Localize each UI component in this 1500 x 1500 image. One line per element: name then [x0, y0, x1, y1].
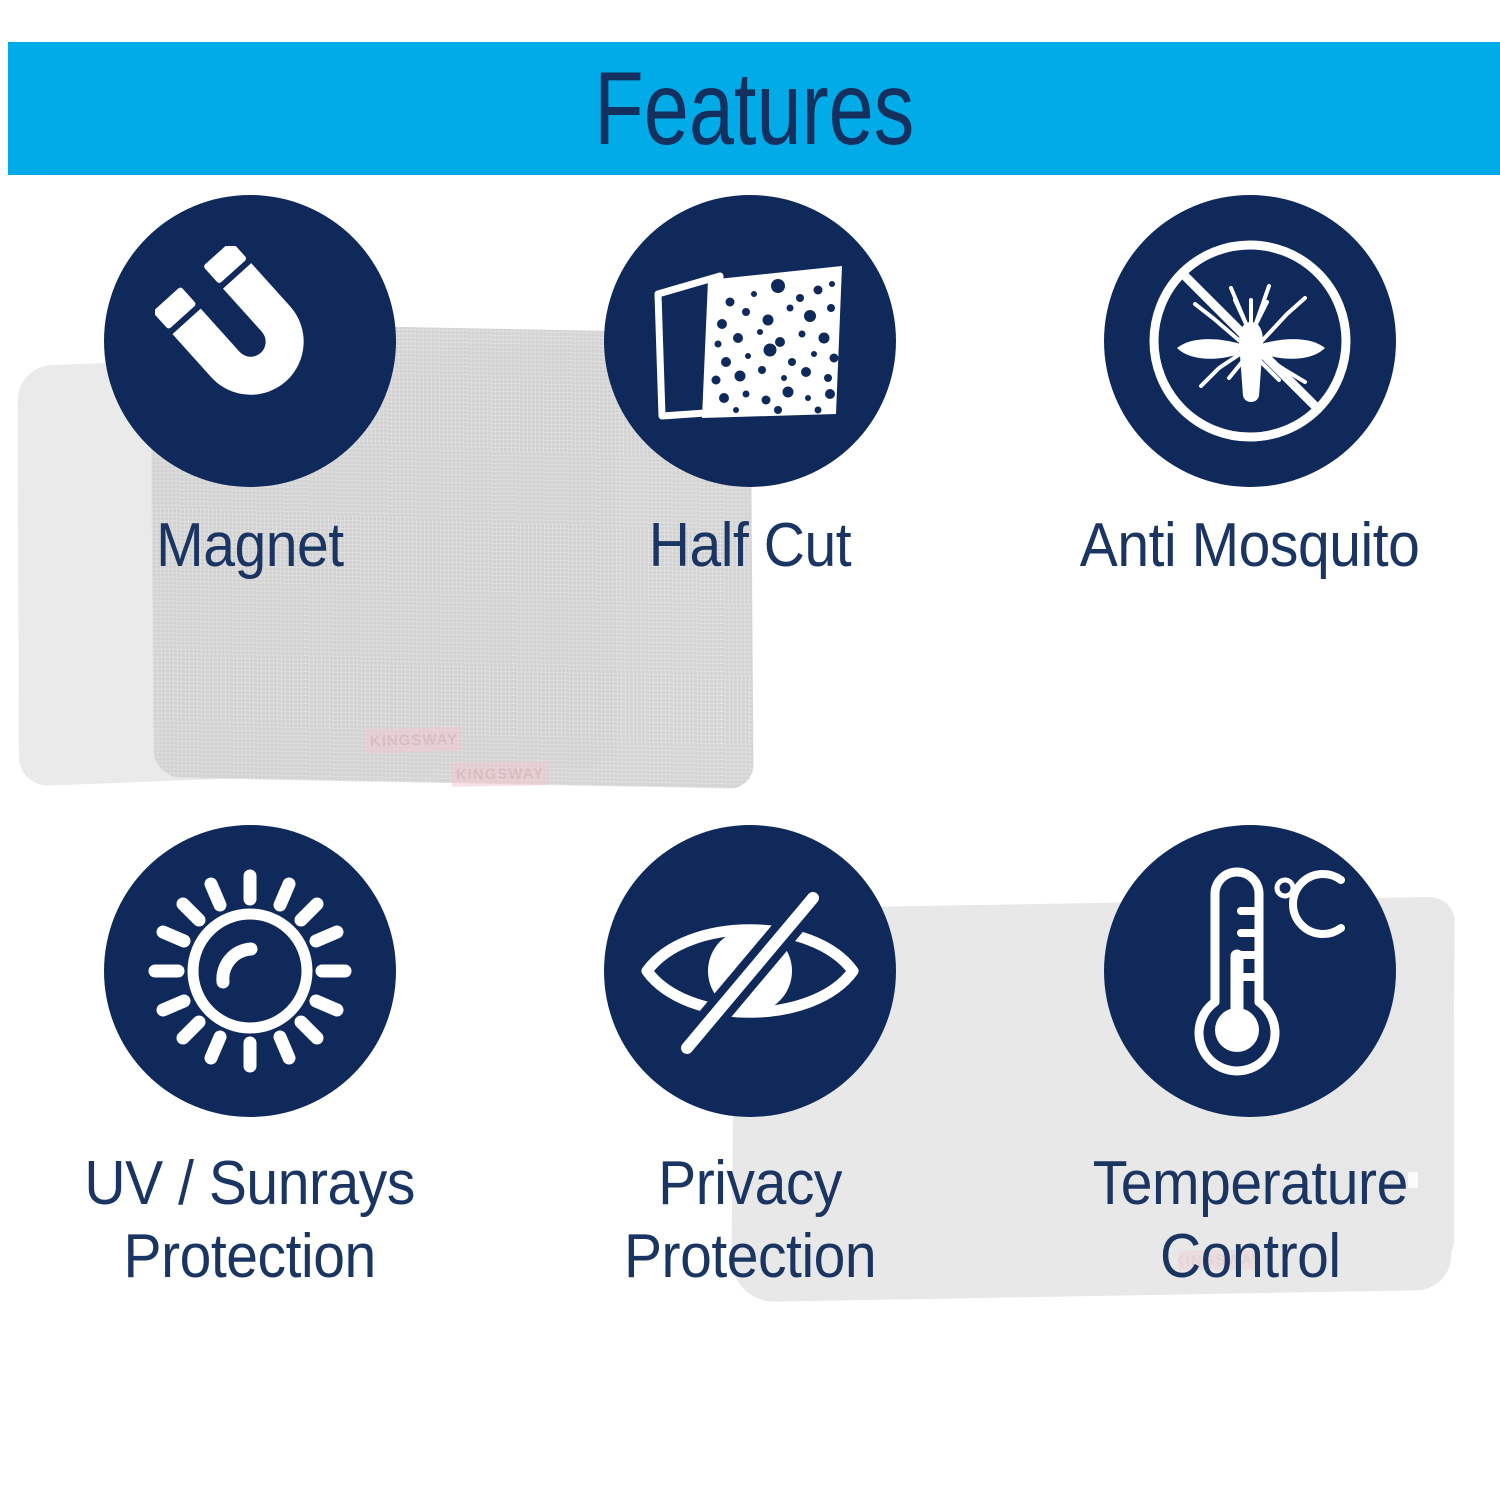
- feature-item-privacy-protection[interactable]: Privacy Protection: [500, 825, 1000, 1293]
- feature-label-anti-mosquito: Anti Mosquito: [1080, 509, 1420, 582]
- feature-label-uv-sunrays-protection: UV / Sunrays Protection: [85, 1147, 416, 1293]
- feature-item-half-cut[interactable]: Half Cut: [500, 195, 1000, 582]
- feature-label-magnet: Magnet: [156, 509, 344, 582]
- feature-item-anti-mosquito[interactable]: Anti Mosquito: [1000, 195, 1500, 582]
- sun-icon: [145, 866, 355, 1076]
- header-banner: Features: [8, 42, 1500, 175]
- feature-label-half-cut: Half Cut: [649, 509, 851, 582]
- feature-item-temperature-control[interactable]: Temperature Control: [1000, 825, 1500, 1293]
- magnet-icon-badge: [104, 195, 396, 487]
- no-mosquito-icon-badge: [1104, 195, 1396, 487]
- feature-row-bottom: UV / Sunrays Protection Privacy Protecti…: [0, 825, 1500, 1293]
- no-mosquito-icon: [1135, 226, 1365, 456]
- eye-slash-icon: [635, 876, 865, 1066]
- thermometer-celsius-icon-badge: [1104, 825, 1396, 1117]
- feature-item-uv-sunrays-protection[interactable]: UV / Sunrays Protection: [0, 825, 500, 1293]
- sun-icon-badge: [104, 825, 396, 1117]
- feature-row-top: Magnet: [0, 195, 1500, 582]
- magnet-icon: [155, 246, 345, 436]
- feature-label-temperature-control: Temperature Control: [1092, 1147, 1407, 1293]
- perforated-shade-icon-badge: [604, 195, 896, 487]
- eye-slash-icon-badge: [604, 825, 896, 1117]
- thermometer-celsius-icon: [1155, 864, 1345, 1079]
- page-title: Features: [594, 57, 914, 161]
- feature-label-privacy-protection: Privacy Protection: [624, 1147, 876, 1293]
- perforated-shade-icon: [650, 246, 850, 436]
- feature-grid: Magnet: [0, 195, 1500, 1485]
- feature-item-magnet[interactable]: Magnet: [0, 195, 500, 582]
